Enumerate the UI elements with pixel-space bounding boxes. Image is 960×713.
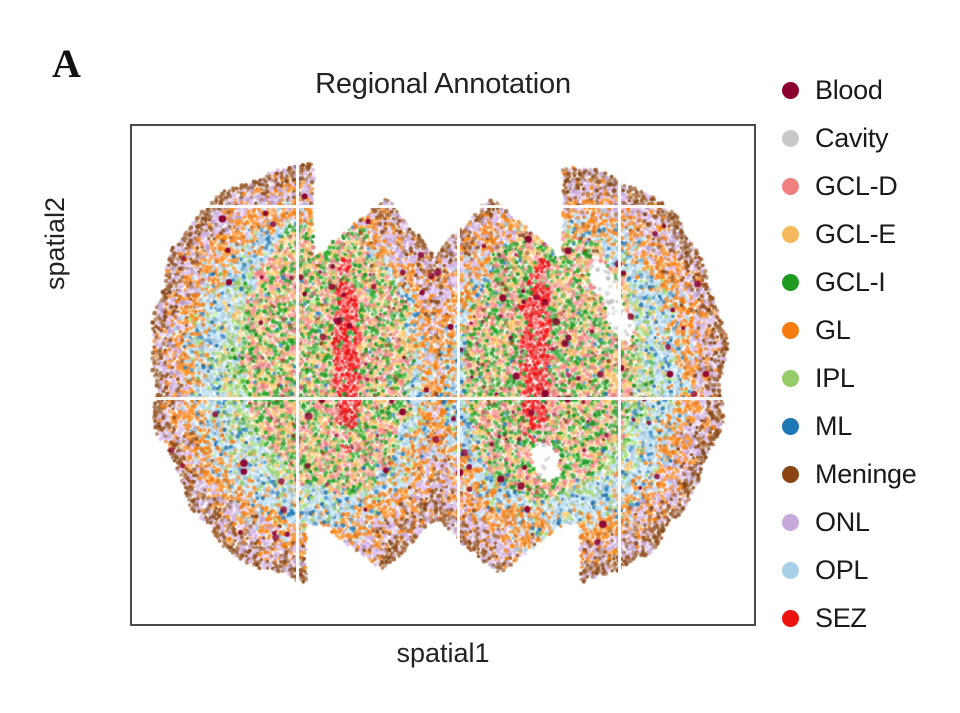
legend-item-label: GCL-I <box>815 267 886 298</box>
legend-color-swatch-icon <box>782 418 799 435</box>
legend-color-swatch-icon <box>782 130 799 147</box>
plot-title: Regional Annotation <box>130 68 756 101</box>
spatial-scatter-plot[interactable] <box>132 126 754 624</box>
legend-item-sez[interactable]: SEZ <box>782 594 960 642</box>
legend-item-meninge[interactable]: Meninge <box>782 450 960 498</box>
plot-area[interactable] <box>130 124 756 626</box>
legend-color-swatch-icon <box>782 178 799 195</box>
legend-item-label: IPL <box>815 363 855 394</box>
legend-color-swatch-icon <box>782 562 799 579</box>
legend: BloodCavityGCL-DGCL-EGCL-IGLIPLMLMeninge… <box>782 66 960 642</box>
legend-color-swatch-icon <box>782 370 799 387</box>
legend-item-blood[interactable]: Blood <box>782 66 960 114</box>
legend-color-swatch-icon <box>782 82 799 99</box>
y-axis-label: spatial2 <box>40 197 71 290</box>
legend-item-gcl-i[interactable]: GCL-I <box>782 258 960 306</box>
legend-item-ml[interactable]: ML <box>782 402 960 450</box>
legend-item-label: Meninge <box>815 459 916 490</box>
legend-item-label: ONL <box>815 507 870 538</box>
legend-item-cavity[interactable]: Cavity <box>782 114 960 162</box>
panel-label: A <box>52 44 81 84</box>
figure-panel: A Regional Annotation spatial2 spatial1 … <box>0 0 960 713</box>
legend-color-swatch-icon <box>782 226 799 243</box>
legend-item-opl[interactable]: OPL <box>782 546 960 594</box>
legend-item-label: Cavity <box>815 123 888 154</box>
legend-item-gcl-e[interactable]: GCL-E <box>782 210 960 258</box>
legend-item-label: SEZ <box>815 603 867 634</box>
legend-item-onl[interactable]: ONL <box>782 498 960 546</box>
legend-item-ipl[interactable]: IPL <box>782 354 960 402</box>
legend-item-label: GCL-D <box>815 171 898 202</box>
legend-color-swatch-icon <box>782 274 799 291</box>
legend-item-label: Blood <box>815 75 883 106</box>
legend-item-label: GL <box>815 315 850 346</box>
legend-item-gl[interactable]: GL <box>782 306 960 354</box>
legend-item-label: GCL-E <box>815 219 896 250</box>
legend-color-swatch-icon <box>782 322 799 339</box>
legend-item-label: OPL <box>815 555 868 586</box>
legend-color-swatch-icon <box>782 610 799 627</box>
legend-item-label: ML <box>815 411 852 442</box>
legend-color-swatch-icon <box>782 466 799 483</box>
legend-item-gcl-d[interactable]: GCL-D <box>782 162 960 210</box>
x-axis-label: spatial1 <box>130 638 756 669</box>
legend-color-swatch-icon <box>782 514 799 531</box>
